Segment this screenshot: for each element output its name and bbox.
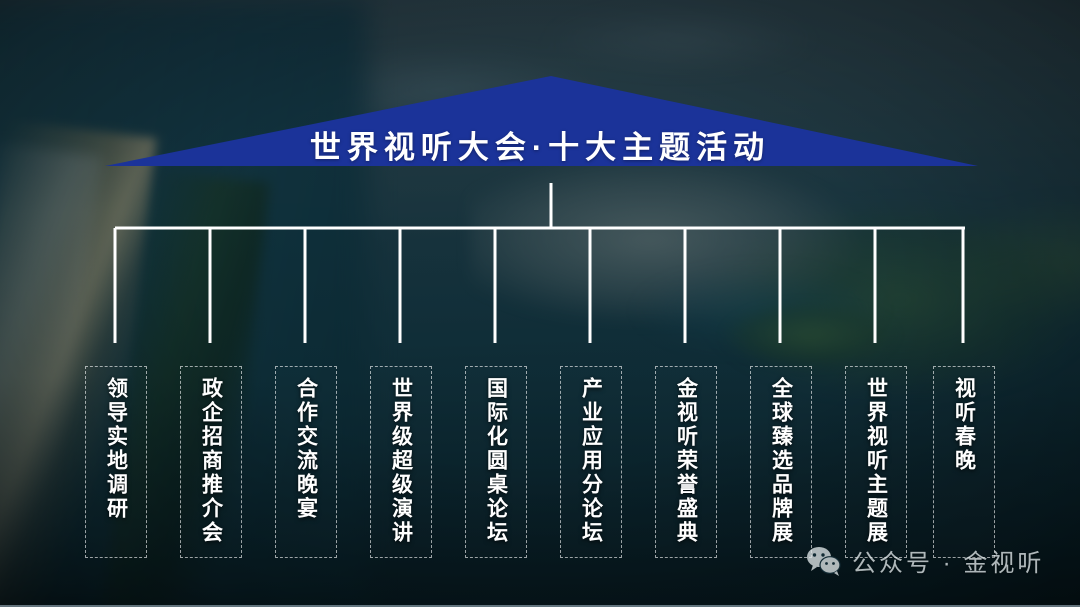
card-label: 领导实地调研 [106, 377, 127, 521]
card-label: 世界视听主题展 [866, 377, 887, 545]
card-label: 金视听荣誉盛典 [676, 377, 697, 545]
card-jinshiting-honor-ceremony[interactable]: 金视听荣誉盛典 [655, 366, 717, 558]
card-world-av-theme-expo[interactable]: 世界视听主题展 [845, 366, 907, 558]
card-industry-application-subforum[interactable]: 产业应用分论坛 [560, 366, 622, 558]
activity-card-list: 领导实地调研 政企招商推介会 合作交流晚宴 世界级超级演讲 国际化圆桌论坛 产业… [0, 0, 1080, 607]
slide-canvas: 世界视听大会·十大主题活动 领导实地调研 政企招商推介会 [0, 0, 1080, 607]
card-label: 合作交流晚宴 [296, 377, 317, 521]
card-leadership-field-research[interactable]: 领导实地调研 [85, 366, 147, 558]
watermark: 公众号 · 金视听 [806, 543, 1044, 578]
card-av-spring-festival-gala[interactable]: 视听春晚 [933, 366, 995, 558]
card-label: 世界级超级演讲 [391, 377, 412, 545]
card-international-roundtable-forum[interactable]: 国际化圆桌论坛 [465, 366, 527, 558]
card-label: 产业应用分论坛 [581, 377, 602, 545]
card-global-selected-brand-expo[interactable]: 全球臻选品牌展 [750, 366, 812, 558]
card-world-class-super-speech[interactable]: 世界级超级演讲 [370, 366, 432, 558]
card-government-enterprise-investment[interactable]: 政企招商推介会 [180, 366, 242, 558]
wechat-icon [806, 546, 842, 576]
card-label: 视听春晚 [954, 377, 975, 473]
card-label: 政企招商推介会 [201, 377, 222, 545]
card-label: 全球臻选品牌展 [771, 377, 792, 545]
card-label: 国际化圆桌论坛 [486, 377, 507, 545]
watermark-text: 公众号 · 金视听 [852, 543, 1044, 578]
card-cooperation-exchange-dinner[interactable]: 合作交流晚宴 [275, 366, 337, 558]
